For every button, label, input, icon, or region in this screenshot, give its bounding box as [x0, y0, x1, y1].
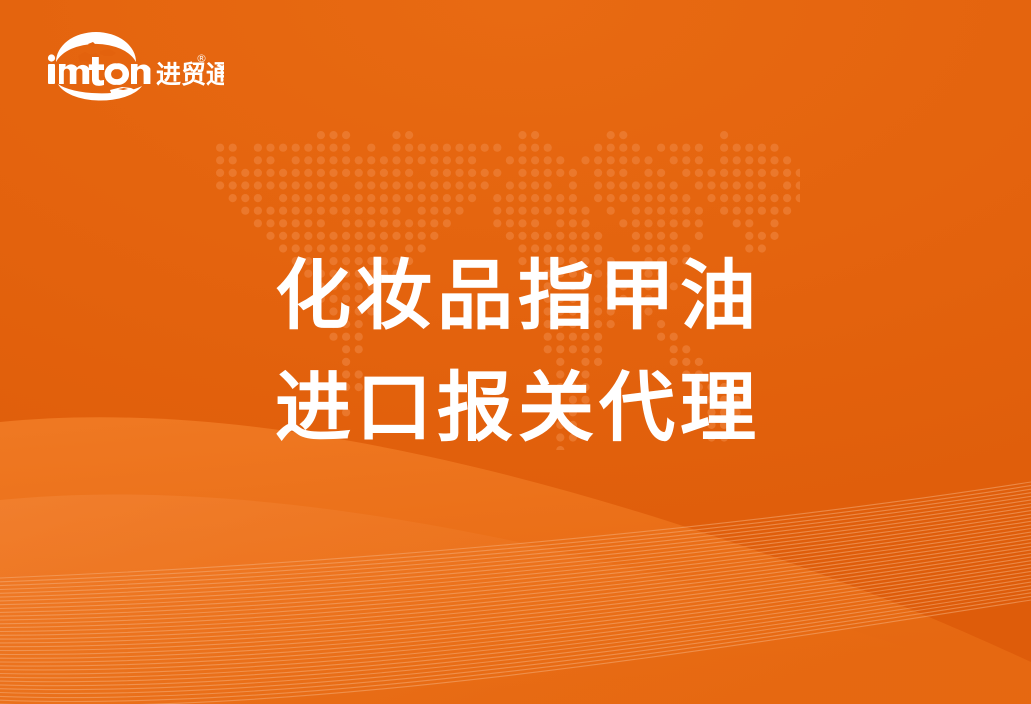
headline-line-2: 进口报关代理 — [0, 370, 1031, 446]
imton-logo[interactable]: 进贸通 ® — [44, 26, 224, 104]
registered-trademark-symbol: ® — [196, 52, 207, 65]
logo-chinese-name: 进贸通 — [156, 60, 224, 89]
headline-line-1: 化妆品指甲油 — [0, 258, 1031, 334]
headline-block: 化妆品指甲油 进口报关代理 — [0, 258, 1031, 446]
fine-line-striations — [0, 474, 1031, 704]
swoosh-arc-icon — [58, 84, 142, 101]
promo-banner: 进贸通 ® 化妆品指甲油 进口报关代理 — [0, 0, 1031, 704]
